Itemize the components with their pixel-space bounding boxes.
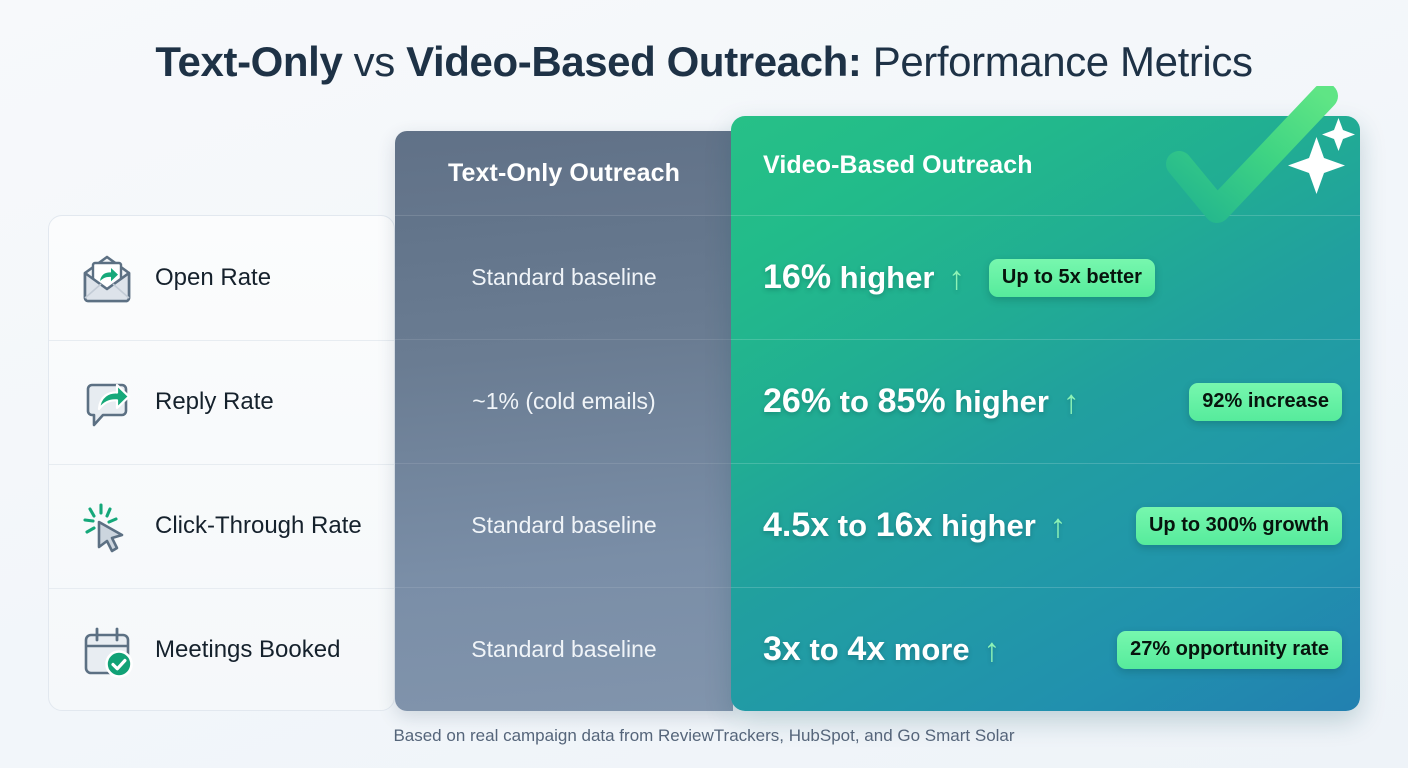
text-only-cell: Standard baseline [395, 587, 733, 711]
speech-bubble-reply-icon [77, 373, 137, 433]
status-badge: Up to 5x better [989, 259, 1155, 297]
video-stat: 16% higher [763, 258, 934, 297]
text-only-cell: ~1% (cold emails) [395, 339, 733, 463]
title-part-2: vs [342, 38, 406, 85]
video-stat-suffix: higher [946, 384, 1049, 419]
video-based-column: Video-Based Outreach 16% higher ↑ Up to … [731, 116, 1360, 711]
open-envelope-share-icon [77, 248, 137, 308]
text-only-cell: Standard baseline [395, 215, 733, 339]
metric-label: Reply Rate [155, 385, 274, 419]
video-stat: 4.5x to 16x higher [763, 506, 1036, 545]
video-based-column-header: Video-Based Outreach [731, 116, 1360, 215]
table-row: 26% to 85% higher ↑ 92% increase [731, 339, 1360, 463]
title-part-3: Video-Based Outreach: [406, 38, 861, 85]
table-row: Reply Rate [49, 340, 394, 464]
table-row: Meetings Booked [49, 588, 394, 711]
video-stat-joiner: to [801, 632, 848, 667]
table-row: Click-Through Rate [49, 464, 394, 588]
video-stat-suffix: higher [831, 260, 934, 295]
table-row: 16% higher ↑ Up to 5x better [731, 215, 1360, 339]
video-stat: 26% to 85% higher [763, 382, 1049, 421]
video-stat-number: 26% [763, 382, 831, 420]
video-stat-number: 3x [763, 630, 801, 668]
video-stat-joiner: to [831, 384, 878, 419]
video-stat: 3x to 4x more [763, 630, 970, 669]
metric-label: Open Rate [155, 261, 271, 295]
video-stat-number: 16% [763, 258, 831, 296]
infographic-page: Text-Only vs Video-Based Outreach: Perfo… [0, 0, 1408, 768]
text-only-column: Text-Only Outreach Standard baseline ~1%… [395, 131, 733, 711]
status-badge: 92% increase [1189, 383, 1342, 421]
status-badge: 27% opportunity rate [1117, 631, 1342, 669]
video-stat-suffix: more [885, 632, 969, 667]
up-arrow-icon: ↑ [984, 633, 1001, 666]
up-arrow-icon: ↑ [1063, 385, 1080, 418]
table-row: 4.5x to 16x higher ↑ Up to 300% growth [731, 463, 1360, 587]
status-badge: Up to 300% growth [1136, 507, 1342, 545]
click-cursor-icon [77, 497, 137, 557]
video-stat-number-2: 85% [878, 382, 946, 420]
comparison-table: Open Rate Reply Rate [48, 131, 1360, 711]
up-arrow-icon: ↑ [1050, 509, 1067, 542]
video-stat-number-2: 16x [876, 506, 933, 544]
calendar-check-icon [77, 621, 137, 681]
video-stat-number-2: 4x [847, 630, 885, 668]
metric-label: Click-Through Rate [155, 509, 362, 543]
text-only-cell: Standard baseline [395, 463, 733, 587]
page-title: Text-Only vs Video-Based Outreach: Perfo… [0, 34, 1408, 90]
table-row: 3x to 4x more ↑ 27% opportunity rate [731, 587, 1360, 711]
footer-caption: Based on real campaign data from ReviewT… [0, 726, 1408, 746]
title-part-1: Text-Only [155, 38, 342, 85]
up-arrow-icon: ↑ [948, 261, 965, 294]
title-part-4: Performance Metrics [861, 38, 1252, 85]
video-stat-joiner: to [829, 508, 876, 543]
metric-label-column: Open Rate Reply Rate [48, 215, 395, 711]
text-only-column-header: Text-Only Outreach [395, 131, 733, 215]
video-stat-suffix: higher [932, 508, 1035, 543]
metric-label: Meetings Booked [155, 633, 340, 667]
table-row: Open Rate [49, 216, 394, 340]
video-stat-number: 4.5x [763, 506, 829, 544]
